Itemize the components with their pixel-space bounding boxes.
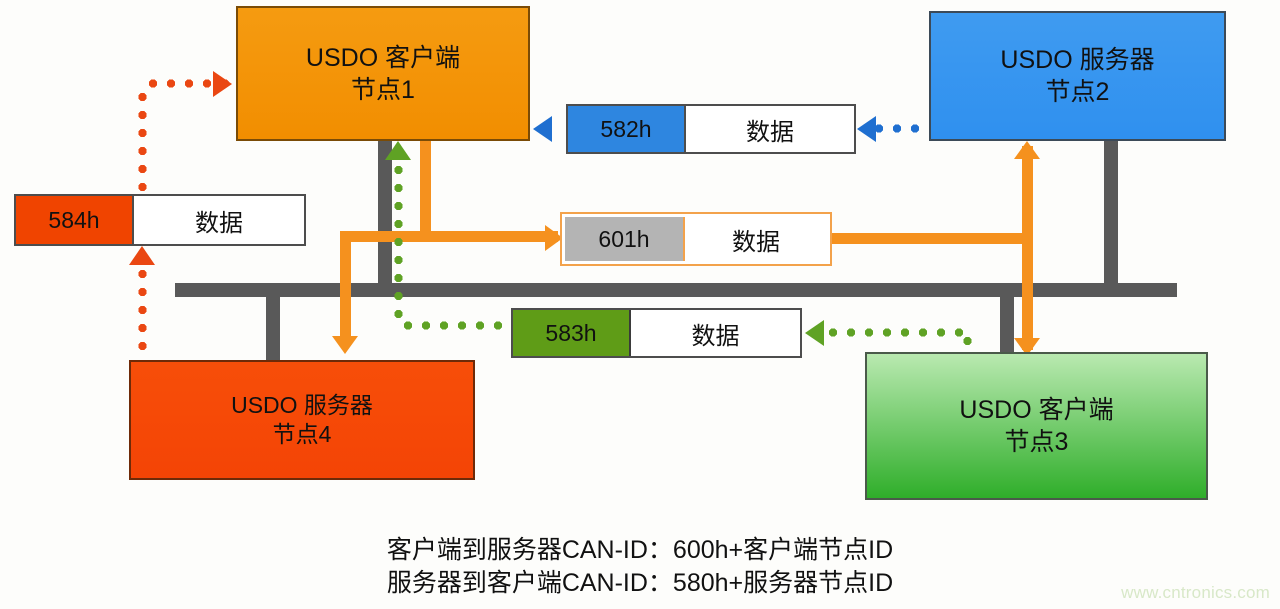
orange-line-node1-down <box>420 141 431 241</box>
node-usdo-client-3[interactable]: USDO 客户端 节点3 <box>865 352 1208 500</box>
blue-arrow-into-582h <box>857 116 876 142</box>
node3-title: USDO 客户端 <box>959 394 1113 426</box>
frame-601h-payload: 数据 <box>685 217 827 261</box>
blue-dotted-node2-to-582h <box>870 124 930 133</box>
orange-line-601h-to-right <box>830 233 1032 244</box>
node3-subtitle: 节点3 <box>1005 426 1069 458</box>
frame-601h-id: 601h <box>565 217 685 261</box>
green-arrow-into-583h <box>805 320 824 346</box>
diagram-caption: 客户端到服务器CAN-ID：600h+客户端节点ID 服务器到客户端CAN-ID… <box>0 534 1280 601</box>
bus-stub-node2 <box>1104 139 1118 286</box>
node-usdo-server-4[interactable]: USDO 服务器 节点4 <box>129 360 475 480</box>
orange-line-down-node4 <box>340 231 351 343</box>
frame-583h: 583h 数据 <box>511 308 802 358</box>
green-dotted-583h-left <box>399 321 511 330</box>
orange-line-node2-node3 <box>1022 146 1033 350</box>
frame-584h: 584h 数据 <box>14 194 306 246</box>
frame-583h-id: 583h <box>513 310 631 356</box>
caption-line-2: 服务器到客户端CAN-ID：580h+服务器节点ID <box>0 567 1280 600</box>
node-usdo-server-2[interactable]: USDO 服务器 节点2 <box>929 11 1226 141</box>
frame-584h-id: 584h <box>16 196 134 244</box>
frame-582h-id: 582h <box>568 106 686 152</box>
bus-stub-node4 <box>266 295 280 363</box>
red-dotted-node4-to-584h <box>138 265 147 363</box>
red-arrow-into-584h <box>129 246 155 265</box>
orange-arrow-into-node2 <box>1014 141 1040 159</box>
blue-arrow-into-node1 <box>533 116 552 142</box>
watermark: www.cntronics.com <box>1121 583 1270 603</box>
frame-582h: 582h 数据 <box>566 104 856 154</box>
node4-subtitle: 节点4 <box>273 420 332 449</box>
node4-title: USDO 服务器 <box>231 391 373 420</box>
frame-583h-payload: 数据 <box>631 310 800 356</box>
frame-584h-payload: 数据 <box>134 196 304 244</box>
orange-line-to-601h <box>345 231 558 242</box>
frame-582h-payload: 数据 <box>686 106 854 152</box>
orange-arrow-into-node4 <box>332 336 358 354</box>
node1-title: USDO 客户端 <box>306 42 460 74</box>
caption-line-1: 客户端到服务器CAN-ID：600h+客户端节点ID <box>0 534 1280 567</box>
node2-title: USDO 服务器 <box>1000 44 1154 76</box>
green-dotted-up-node1 <box>394 161 403 325</box>
green-dotted-to-583h <box>824 328 970 337</box>
node2-subtitle: 节点2 <box>1046 76 1110 108</box>
red-dotted-584h-up <box>138 88 147 194</box>
green-arrow-into-node1 <box>385 141 411 160</box>
diagram-canvas: USDO 客户端 节点1 USDO 服务器 节点2 USDO 服务器 节点4 U… <box>0 0 1280 609</box>
frame-601h: 601h 数据 <box>560 212 832 266</box>
node-usdo-client-1[interactable]: USDO 客户端 节点1 <box>236 6 530 141</box>
node1-subtitle: 节点1 <box>351 74 415 106</box>
bus-stub-node1 <box>378 141 392 286</box>
bus-stub-node3 <box>1000 295 1014 355</box>
red-arrow-into-node1 <box>213 71 232 97</box>
